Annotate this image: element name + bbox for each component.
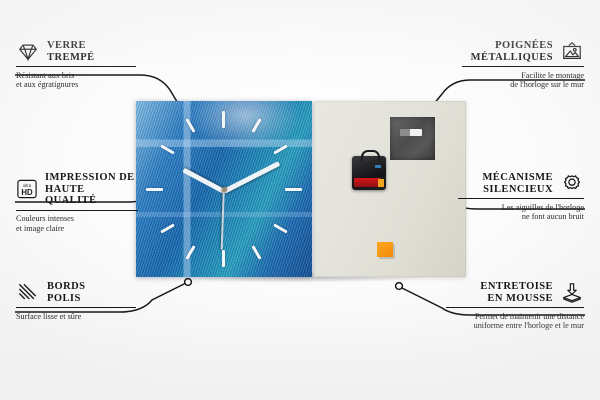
callout-subtitle: Permet de maintenir une distanceuniforme… [446, 312, 584, 331]
callout-title: IMPRESSION DEHAUTE QUALITÉ [45, 172, 138, 207]
mechanism-detail [375, 165, 381, 168]
clock-mechanism [352, 156, 386, 190]
diamond-icon [16, 41, 40, 63]
clock-hour-hand [182, 168, 225, 194]
callout-rule [446, 307, 584, 308]
battery [354, 178, 381, 187]
foam-spacer [377, 242, 393, 257]
callout-header: MÉCANISMESILENCIEUX [458, 172, 584, 195]
clock-center-pin [222, 187, 227, 192]
callout-rule [16, 210, 138, 211]
callout-subtitle: Couleurs intenseset image claire [16, 214, 138, 233]
callout-title: ENTRETOISEEN MOUSSE [446, 281, 553, 304]
gear-icon [560, 173, 584, 195]
clock-front-face [136, 101, 312, 277]
metal-hanger-plate [390, 117, 435, 160]
callout-header: ENTRETOISEEN MOUSSE [446, 281, 584, 304]
callout-entretoise-en-mousse[interactable]: ENTRETOISEEN MOUSSE Permet de maintenir … [446, 281, 584, 331]
infographic-canvas: VERRETREMPÉ Résistant aux briset aux égr… [0, 0, 600, 400]
clock-second-hand [221, 190, 225, 250]
callout-poignees-metalliques[interactable]: POIGNÉESMÉTALLIQUES Facilite le montaged… [462, 40, 584, 90]
callout-header: VERRETREMPÉ [16, 40, 136, 63]
callout-rule [458, 198, 584, 199]
diagonal-stripes-icon [16, 282, 40, 304]
callout-rule [16, 66, 136, 67]
mechanism-hook [361, 150, 380, 161]
callout-title: VERRETREMPÉ [47, 40, 95, 63]
callout-header: POIGNÉESMÉTALLIQUES [462, 40, 584, 63]
callout-title: MÉCANISMESILENCIEUX [458, 172, 553, 195]
svg-text:HD: HD [21, 188, 33, 197]
product-image [136, 101, 466, 277]
callout-verre-trempe[interactable]: VERRETREMPÉ Résistant aux briset aux égr… [16, 40, 136, 90]
callout-subtitle: Surface lisse et sûre [16, 312, 136, 322]
callout-mecanisme-silencieux[interactable]: MÉCANISMESILENCIEUX Les aiguilles de l'h… [458, 172, 584, 222]
callout-impression-haute-qualite[interactable]: ultra HD IMPRESSION DEHAUTE QUALITÉ Coul… [16, 172, 138, 234]
callout-rule [462, 66, 584, 67]
picture-hanger-icon [560, 41, 584, 63]
clock-minute-hand [223, 161, 281, 194]
ultra-hd-icon: ultra HD [16, 179, 38, 199]
callout-subtitle: Facilite le montagede l'horloge sur le m… [462, 71, 584, 90]
callout-title: POIGNÉESMÉTALLIQUES [462, 40, 553, 63]
callout-title: BORDSPOLIS [47, 281, 85, 304]
clock-back-panel [314, 101, 466, 277]
callout-bords-polis[interactable]: BORDSPOLIS Surface lisse et sûre [16, 281, 136, 321]
callout-subtitle: Résistant aux briset aux égratignures [16, 71, 136, 90]
callout-subtitle: Les aiguilles de l'horlogene font aucun … [458, 203, 584, 222]
press-down-icon [560, 282, 584, 304]
callout-header: ultra HD IMPRESSION DEHAUTE QUALITÉ [16, 172, 138, 207]
callout-rule [16, 307, 136, 308]
callout-header: BORDSPOLIS [16, 281, 136, 304]
